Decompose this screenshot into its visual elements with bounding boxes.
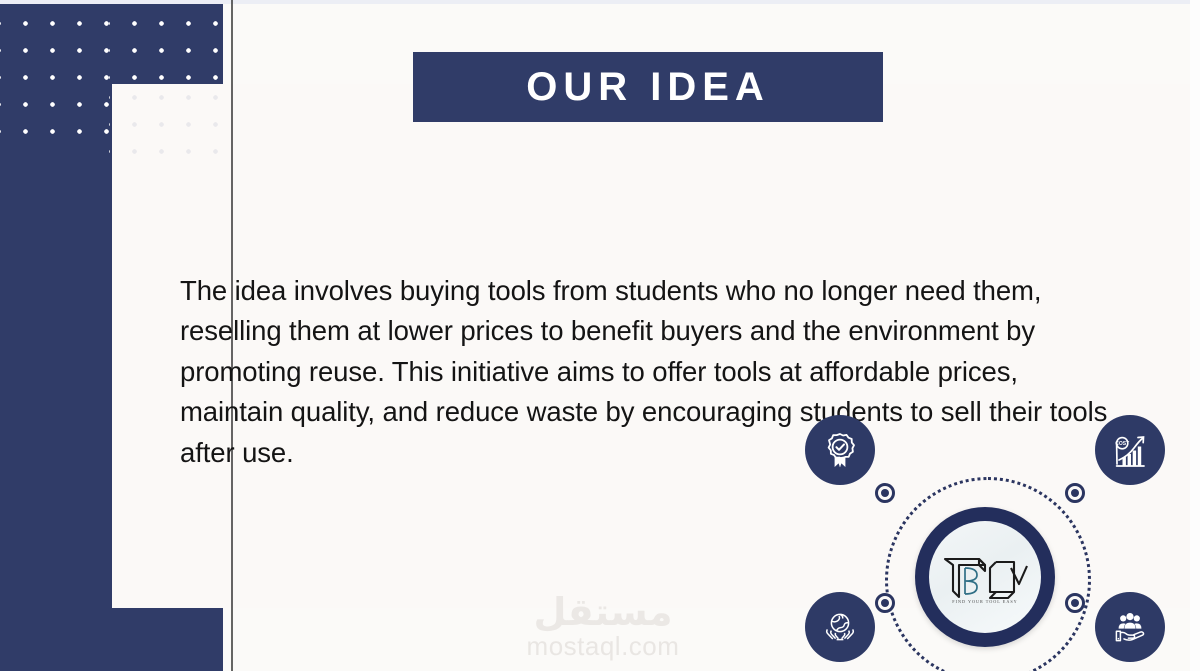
brand-tagline: FIND YOUR TOOL EASY (952, 599, 1017, 604)
right-edge-strip (1190, 0, 1200, 671)
ring-marker-bottom-right (1065, 593, 1085, 613)
eco-globe-hands-icon (820, 607, 860, 647)
ring-marker-top-left (875, 483, 895, 503)
ring-marker-bottom-left (875, 593, 895, 613)
svg-text:COST: COST (1115, 441, 1129, 447)
watermark-latin: mostaql.com (515, 632, 691, 660)
page-title: OUR IDEA (526, 67, 770, 107)
quality-badge-icon (821, 431, 859, 469)
ring-marker-top-right (1065, 483, 1085, 503)
brand-logo-inner: FIND YOUR TOOL EASY (929, 521, 1041, 633)
infographic-icon-environment[interactable] (805, 592, 875, 662)
brand-logo: FIND YOUR TOOL EASY (915, 507, 1055, 647)
title-banner: OUR IDEA (413, 52, 883, 122)
watermark: مستقل mostaql.com (515, 592, 691, 660)
customer-care-icon (1110, 607, 1150, 647)
infographic-cluster: FIND YOUR TOOL EASY (790, 415, 1190, 671)
brand-wordmark-icon (939, 551, 1031, 603)
infographic-icon-customers[interactable] (1095, 592, 1165, 662)
dot-pattern-navy-wing (109, 4, 223, 84)
infographic-icon-cost[interactable]: COST (1095, 415, 1165, 485)
infographic-icon-quality[interactable] (805, 415, 875, 485)
slide-canvas: OUR IDEA The idea involves buying tools … (0, 0, 1200, 671)
cost-growth-icon: COST (1110, 430, 1150, 470)
watermark-arabic: مستقل (515, 592, 691, 632)
